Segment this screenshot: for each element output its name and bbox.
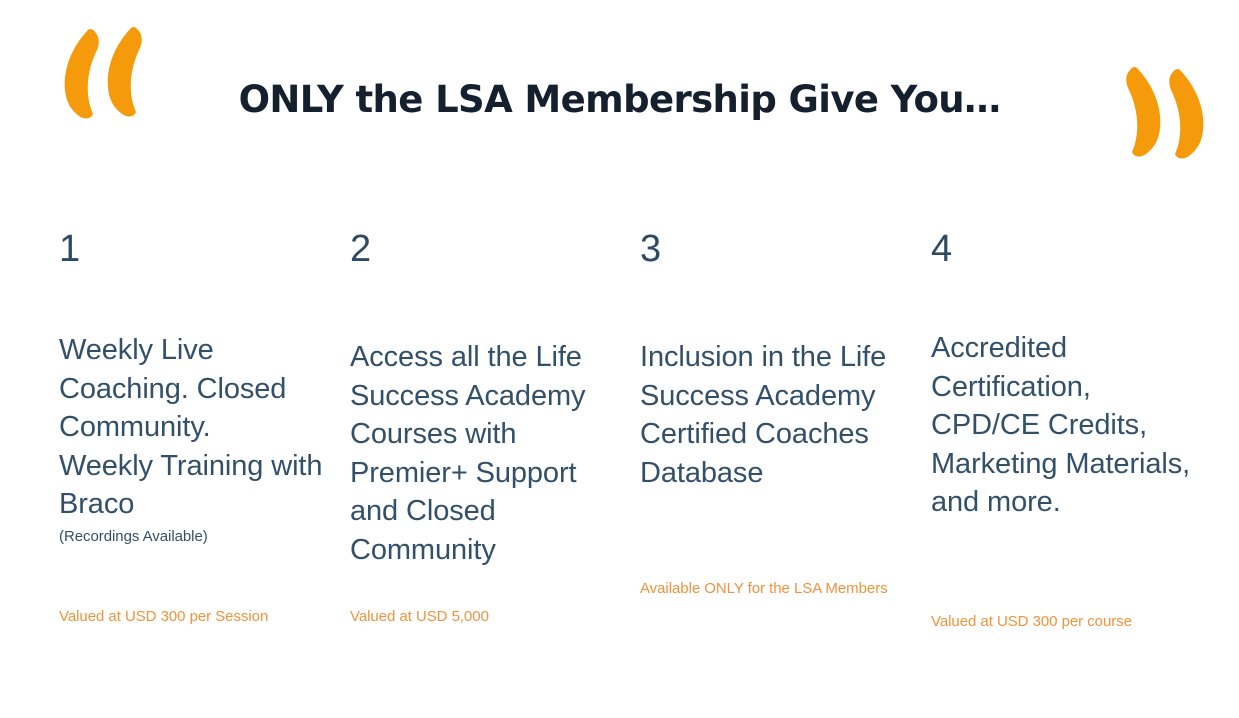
slide-canvas: ONLY the LSA Membership Give You… 1 Week… — [0, 0, 1239, 718]
benefit-column-3: 3 Inclusion in the Life Success Academy … — [639, 228, 909, 658]
close-quote-icon — [1118, 62, 1213, 172]
column-body: Weekly Live Coaching. Closed Community. … — [59, 331, 327, 547]
column-headline-line-2: Weekly Training with Braco — [59, 447, 327, 524]
column-headline-line-1: Access all the Life Success Academy Cour… — [350, 341, 585, 566]
page-title: ONLY the LSA Membership Give You… — [0, 77, 1239, 123]
column-value-note: Valued at USD 5,000 — [350, 606, 622, 627]
column-value-note: Available ONLY for the LSA Members — [640, 578, 912, 599]
column-value-note: Valued at USD 300 per course — [931, 611, 1203, 632]
column-body: Accredited Certification, CPD/CE Credits… — [931, 329, 1199, 522]
benefit-column-2: 2 Access all the Life Success Academy Co… — [349, 228, 619, 658]
column-headline-line-1: Weekly Live Coaching. Closed Community. — [59, 334, 286, 443]
column-body: Access all the Life Success Academy Cour… — [350, 338, 618, 569]
column-body: Inclusion in the Life Success Academy Ce… — [640, 338, 908, 492]
column-number: 4 — [931, 228, 952, 270]
benefit-column-1: 1 Weekly Live Coaching. Closed Community… — [58, 228, 328, 658]
column-number: 2 — [350, 228, 371, 270]
column-value-note: Valued at USD 300 per Session — [59, 606, 331, 627]
benefit-columns: 1 Weekly Live Coaching. Closed Community… — [58, 228, 1218, 658]
column-headline: Inclusion in the Life Success Academy Ce… — [640, 338, 908, 492]
column-number: 1 — [59, 228, 80, 270]
column-headline: Weekly Live Coaching. Closed Community. … — [59, 331, 327, 524]
column-headline-line-1: Inclusion in the Life Success Academy Ce… — [640, 341, 886, 489]
column-number: 3 — [640, 228, 661, 270]
column-headline-line-1: Accredited Certification, CPD/CE Credits… — [931, 332, 1190, 518]
column-headline: Accredited Certification, CPD/CE Credits… — [931, 329, 1199, 522]
column-subnote: (Recordings Available) — [59, 527, 327, 547]
benefit-column-4: 4 Accredited Certification, CPD/CE Credi… — [930, 228, 1200, 658]
column-headline: Access all the Life Success Academy Cour… — [350, 338, 618, 569]
